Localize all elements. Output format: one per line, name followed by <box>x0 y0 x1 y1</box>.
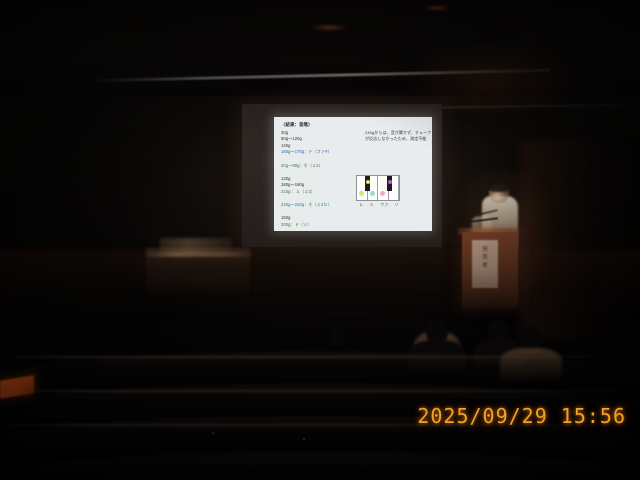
piano-label: レ <box>359 202 363 209</box>
floor-marker-light <box>212 432 214 434</box>
slide-line: 130g <box>281 176 359 183</box>
black-key-1-marker <box>366 180 370 184</box>
seat-row-edge <box>0 390 640 392</box>
slide-columns: 30g 50g〜120g 140g 160g〜170g：ド（ファ#） 20g〜9… <box>281 130 426 229</box>
projection-screen: 〈結果：音階〉 30g 50g〜120g 140g 160g〜170g：ド（ファ… <box>242 104 442 247</box>
white-key-1-marker <box>359 191 364 196</box>
piano-key-labels: レ ミ ファ ソ <box>356 202 402 209</box>
black-key-2-marker <box>388 180 392 184</box>
floor-marker-light <box>303 438 305 440</box>
slide-line-spacer <box>281 169 359 176</box>
slide-line-spacer <box>281 209 359 216</box>
black-key-2 <box>387 176 392 191</box>
slide-line-spacer <box>281 156 359 163</box>
slide-line: 50g〜120g <box>281 136 359 143</box>
slide-line: 220g〜230g：そ（ミ2ｂ） <box>281 202 359 209</box>
slide-line: 140g <box>281 143 359 150</box>
seat-row-edge <box>0 356 640 358</box>
white-key-2-marker <box>370 191 375 196</box>
slide-line: 20g〜90g：そ（ミ2） <box>281 163 359 170</box>
projected-slide: 〈結果：音階〉 30g 50g〜120g 140g 160g〜170g：ド（ファ… <box>274 117 432 231</box>
audience-head <box>330 328 346 346</box>
slide-line: 210g ：ミ（ミ2） <box>281 189 359 196</box>
black-key-1 <box>365 176 370 191</box>
presenter-hair <box>488 179 510 192</box>
piano-label: ファ <box>380 202 388 209</box>
slide-line: 150g <box>281 215 359 222</box>
slide-line: 30g <box>281 130 359 137</box>
slide-content: 〈結果：音階〉 30g 50g〜120g 140g 160g〜170g：ド（ファ… <box>274 117 432 231</box>
piano-label: ミ <box>370 202 374 209</box>
piano-label: ソ <box>395 202 399 209</box>
camera-timestamp: 2025/09/29 15:56 <box>417 404 626 428</box>
white-key-3-marker <box>380 191 385 196</box>
auditorium-photo: 〈結果：音階〉 30g 50g〜120g 140g 160g〜170g：ド（ファ… <box>0 0 640 480</box>
stage-table-objects <box>160 238 232 254</box>
piano-keyboard-diagram <box>356 175 400 201</box>
ceiling-lamp-right <box>424 5 450 11</box>
ceiling-lamp-left <box>310 24 348 31</box>
podium-sign-text: 発表者 <box>480 246 490 270</box>
slide-line: 200g：ド（ソ） <box>281 222 359 229</box>
slide-side-note: 240gからは、音が響かず、チューナーが反応しなかったため、測定不能 <box>365 130 432 143</box>
slide-title: 〈結果：音階〉 <box>281 122 426 129</box>
slide-line: 160g〜170g：ド（ファ#） <box>281 149 359 156</box>
slide-measurement-list: 30g 50g〜120g 140g 160g〜170g：ド（ファ#） 20g〜9… <box>281 130 359 229</box>
slide-line: 180g〜190g <box>281 182 359 189</box>
